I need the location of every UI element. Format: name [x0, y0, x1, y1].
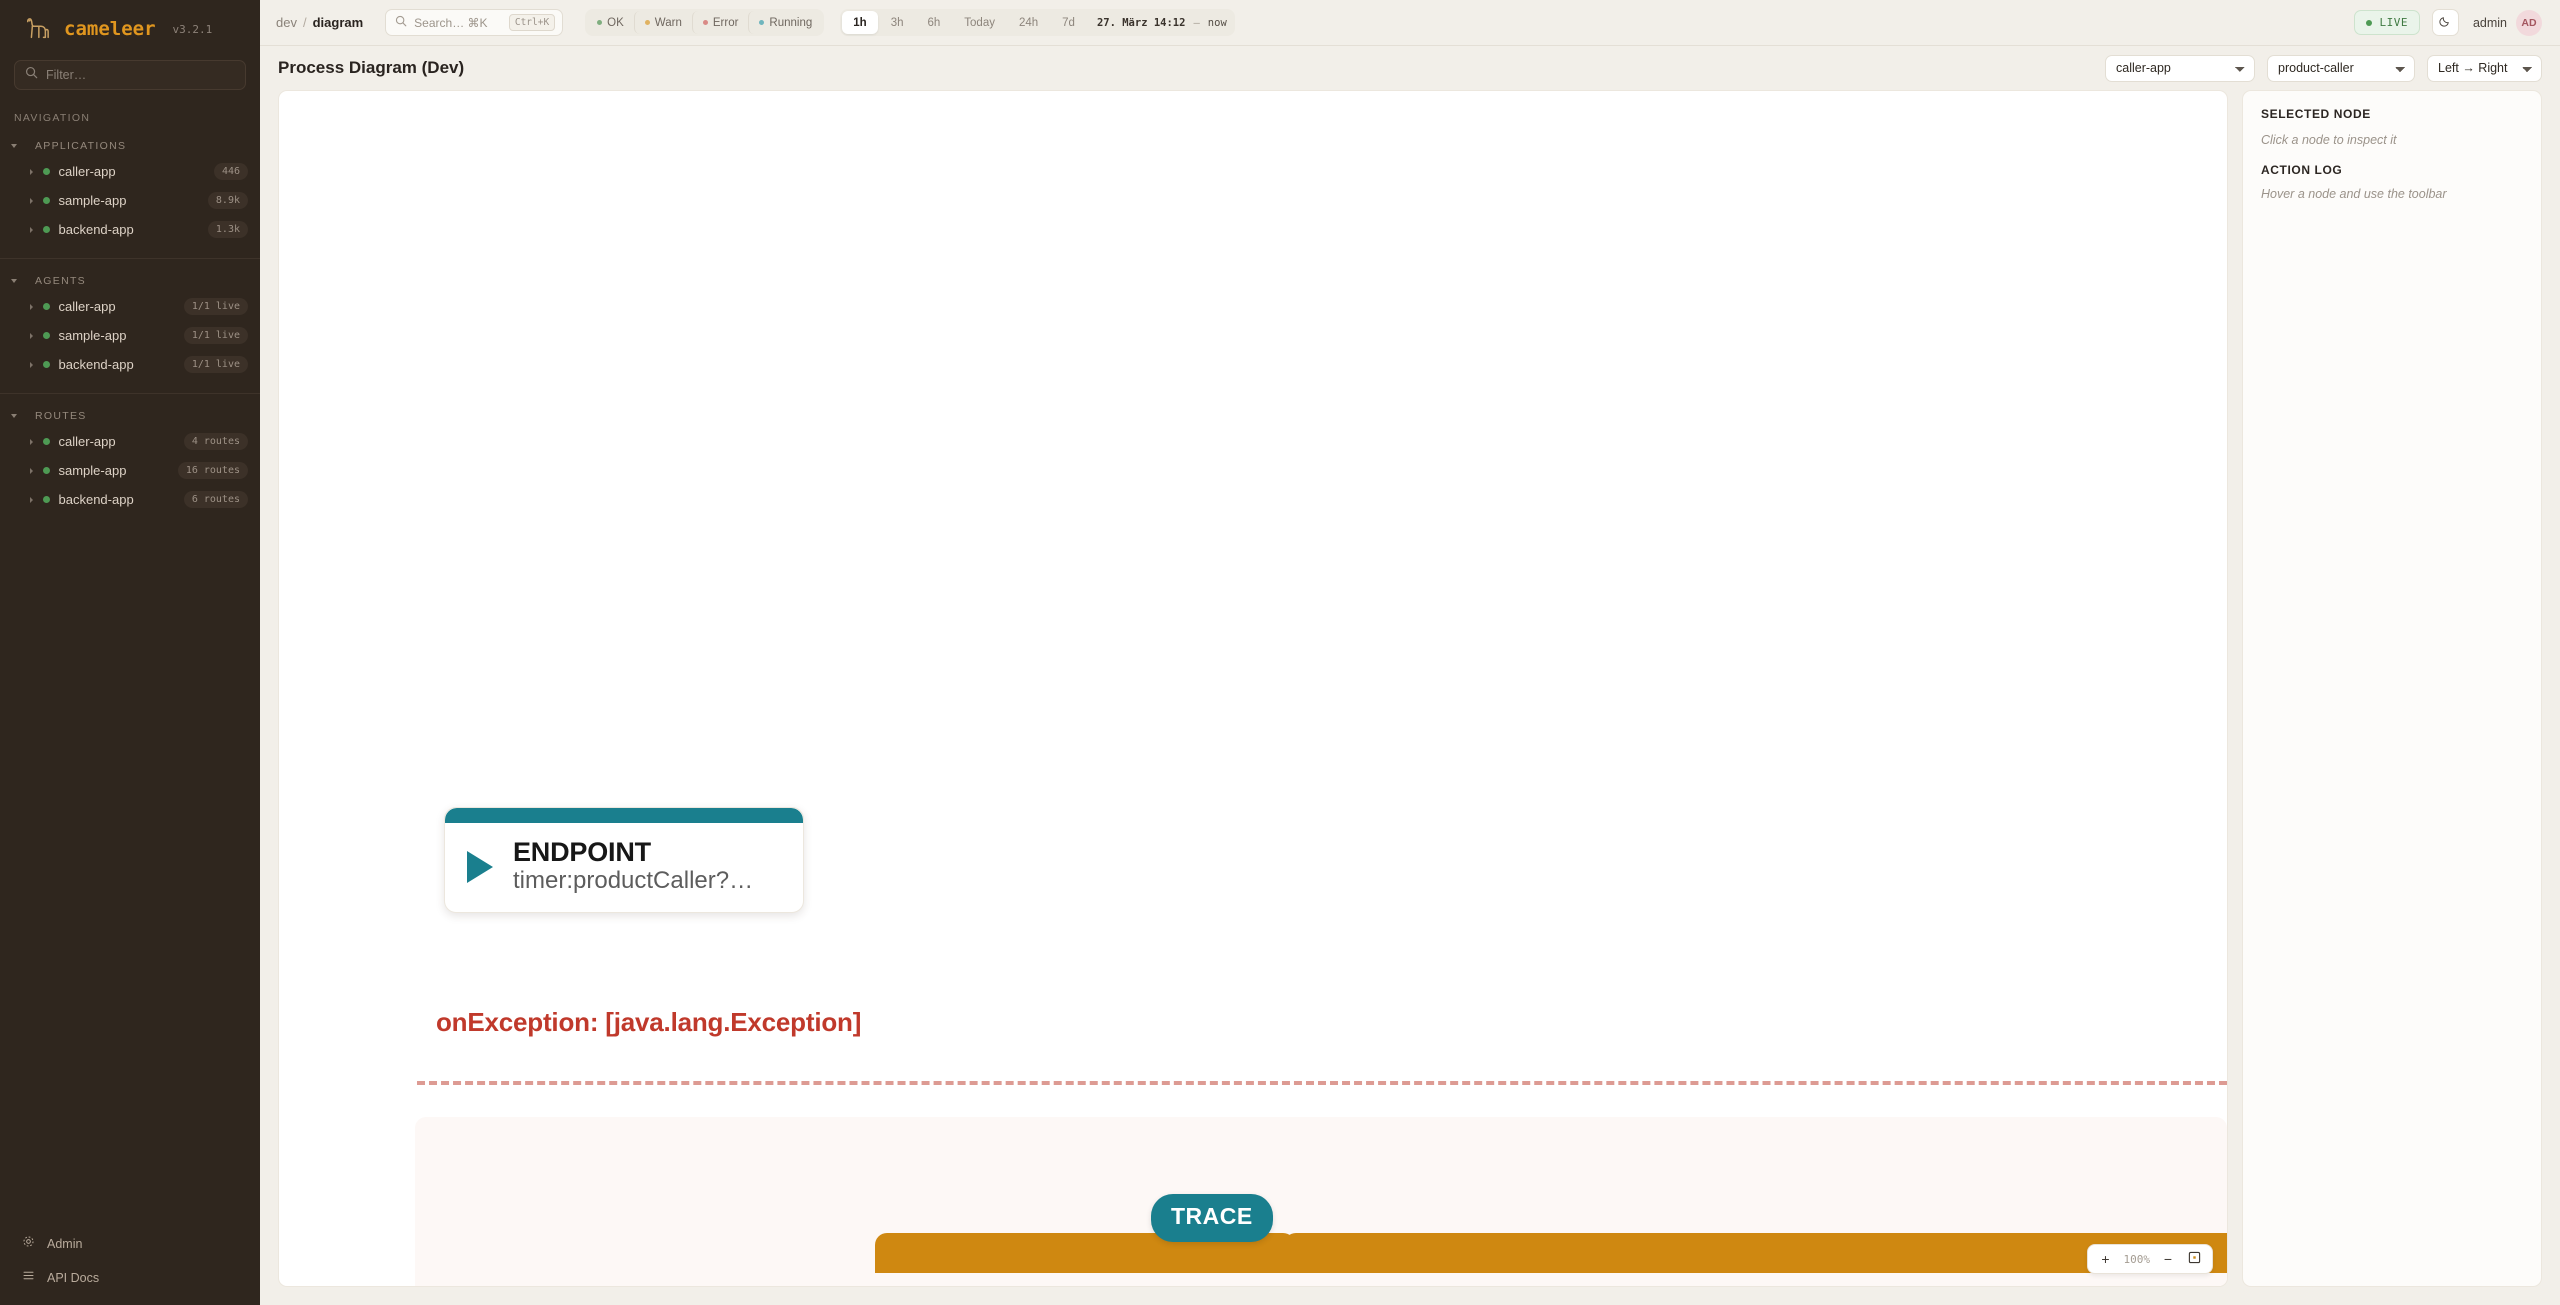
search-placeholder: Search… ⌘K — [414, 16, 502, 30]
zoom-out-button[interactable]: − — [2156, 1247, 2180, 1271]
chevron-down-icon — [11, 144, 17, 148]
status-dot — [43, 361, 50, 368]
item-badge: 446 — [214, 163, 248, 180]
status-dot — [43, 496, 50, 503]
action-log-empty-text: Hover a node and use the toolbar — [2261, 187, 2523, 201]
chevron-right-icon — [30, 468, 34, 474]
topbar: dev / diagram Search… ⌘K Ctrl+K OK — [260, 0, 2560, 46]
sidebar-filter — [0, 54, 260, 90]
group-label: ROUTES — [24, 410, 87, 422]
inspector-panel: SELECTED NODE Click a node to inspect it… — [2242, 90, 2542, 1287]
item-badge: 6 routes — [184, 491, 248, 508]
page-header: Process Diagram (Dev) caller-app product… — [260, 46, 2560, 90]
chevron-down-icon — [11, 414, 17, 418]
sidebar-group-agents: AGENTS caller-app 1/1 live sample-app 1/… — [0, 259, 260, 379]
item-label: caller-app — [59, 434, 184, 449]
breadcrumb-separator: / — [297, 15, 313, 30]
page-title: Process Diagram (Dev) — [278, 58, 464, 78]
status-dot — [43, 438, 50, 445]
item-badge: 16 routes — [178, 462, 248, 479]
sidebar-footer-label: Admin — [47, 1237, 82, 1251]
diagram-node-endpoint[interactable]: ENDPOINT timer:productCaller?… — [444, 807, 804, 913]
sidebar-item-agents-sample-app[interactable]: sample-app 1/1 live — [0, 321, 260, 350]
camel-icon — [22, 16, 52, 42]
live-label: LIVE — [2379, 16, 2408, 29]
status-dot — [43, 197, 50, 204]
item-label: sample-app — [59, 463, 178, 478]
sidebar-footer: Admin API Docs — [0, 1227, 260, 1295]
sidebar-group-routes: ROUTES caller-app 4 routes sample-app 16… — [0, 394, 260, 514]
status-dot — [43, 332, 50, 339]
sidebar-group-applications: APPLICATIONS caller-app 446 sample-app 8… — [0, 124, 260, 244]
nav-heading: NAVIGATION — [0, 90, 260, 124]
node-body: ENDPOINT timer:productCaller?… — [445, 823, 803, 912]
status-filter-warn[interactable]: Warn — [634, 11, 692, 34]
group-label: APPLICATIONS — [24, 140, 126, 152]
sidebar-item-routes-caller-app[interactable]: caller-app 4 routes — [0, 427, 260, 456]
status-filter-group: OK Warn Error Running — [585, 9, 824, 36]
item-badge: 1/1 live — [184, 327, 248, 344]
sidebar-item-routes-sample-app[interactable]: sample-app 16 routes — [0, 456, 260, 485]
chevron-right-icon — [30, 439, 34, 445]
brand-name: cameleer — [64, 18, 156, 40]
chevron-right-icon — [30, 198, 34, 204]
exception-divider — [417, 1081, 2227, 1085]
time-range-7d[interactable]: 7d — [1051, 11, 1086, 34]
theme-toggle-button[interactable] — [2432, 9, 2459, 36]
time-range-1h[interactable]: 1h — [842, 11, 877, 34]
status-dot — [43, 226, 50, 233]
zoom-controls: + 100% − — [2087, 1244, 2214, 1274]
trace-badge[interactable]: TRACE — [1151, 1194, 1273, 1242]
status-dot-error — [703, 20, 708, 25]
status-filter-label: Warn — [655, 17, 682, 29]
fit-view-button[interactable] — [2182, 1247, 2206, 1271]
time-range-6h[interactable]: 6h — [916, 11, 951, 34]
time-range-3h[interactable]: 3h — [880, 11, 915, 34]
app-root: cameleer v3.2.1 NAVIGATION APPLICATIONS — [0, 0, 2560, 1305]
node-text: ENDPOINT timer:productCaller?… — [513, 837, 753, 896]
status-dot-ok — [597, 20, 602, 25]
avatar[interactable]: AD — [2516, 10, 2542, 36]
search-icon — [25, 66, 38, 84]
item-label: caller-app — [59, 164, 214, 179]
live-status-badge[interactable]: LIVE — [2354, 10, 2420, 35]
item-label: backend-app — [59, 222, 208, 237]
item-label: caller-app — [59, 299, 184, 314]
diagram-canvas[interactable]: ENDPOINT timer:productCaller?… onExcepti… — [278, 90, 2228, 1287]
node-kind-label: ENDPOINT — [513, 837, 753, 867]
sidebar-item-applications-sample-app[interactable]: sample-app 8.9k — [0, 186, 260, 215]
time-range-dash: — — [1187, 17, 1205, 29]
item-badge: 1/1 live — [184, 356, 248, 373]
content-area: ENDPOINT timer:productCaller?… onExcepti… — [260, 90, 2560, 1305]
node-uri-label: timer:productCaller?… — [513, 867, 753, 896]
play-icon — [467, 851, 493, 883]
route-select[interactable]: product-caller — [2267, 55, 2415, 82]
gear-icon — [22, 1235, 35, 1253]
time-range-today[interactable]: Today — [953, 11, 1006, 34]
search-input[interactable]: Search… ⌘K Ctrl+K — [385, 9, 563, 36]
node-header-bar — [445, 808, 803, 823]
sidebar-item-agents-backend-app[interactable]: backend-app 1/1 live — [0, 350, 260, 379]
selected-node-empty-text: Click a node to inspect it — [2261, 133, 2523, 147]
sidebar: cameleer v3.2.1 NAVIGATION APPLICATIONS — [0, 0, 260, 1305]
item-label: backend-app — [59, 357, 184, 372]
group-header-applications[interactable]: APPLICATIONS — [0, 140, 260, 152]
item-badge: 4 routes — [184, 433, 248, 450]
item-label: sample-app — [59, 328, 184, 343]
group-header-agents[interactable]: AGENTS — [0, 275, 260, 287]
sidebar-item-applications-backend-app[interactable]: backend-app 1.3k — [0, 215, 260, 244]
status-dot — [43, 168, 50, 175]
status-filter-label: Error — [713, 17, 739, 29]
sidebar-item-api-docs[interactable]: API Docs — [0, 1261, 260, 1295]
sidebar-item-admin[interactable]: Admin — [0, 1227, 260, 1261]
status-filter-label: Running — [769, 17, 812, 29]
chevron-right-icon — [30, 169, 34, 175]
status-filter-running[interactable]: Running — [748, 11, 822, 34]
time-range-group: 1h 3h 6h Today 24h 7d 27. März 14:12 — n… — [840, 9, 1235, 36]
time-range-end: now — [1208, 17, 1227, 29]
status-dot-running — [759, 20, 764, 25]
sidebar-item-applications-caller-app[interactable]: caller-app 446 — [0, 157, 260, 186]
group-header-routes[interactable]: ROUTES — [0, 410, 260, 422]
selected-node-heading: SELECTED NODE — [2261, 107, 2523, 121]
direction-select[interactable]: Left → Right — [2427, 55, 2542, 82]
zoom-level-label: 100% — [2120, 1253, 2155, 1266]
chevron-right-icon — [30, 497, 34, 503]
search-shortcut-badge: Ctrl+K — [509, 14, 555, 31]
group-label: AGENTS — [24, 275, 86, 287]
chevron-right-icon — [30, 227, 34, 233]
application-select[interactable]: caller-app — [2105, 55, 2255, 82]
brand-logo[interactable]: cameleer v3.2.1 — [0, 0, 260, 54]
brand-version: v3.2.1 — [173, 23, 213, 36]
status-filter-error[interactable]: Error — [692, 11, 749, 34]
fit-view-icon — [2188, 1251, 2201, 1267]
item-badge: 8.9k — [208, 192, 248, 209]
zoom-in-button[interactable]: + — [2094, 1247, 2118, 1271]
status-filter-label: OK — [607, 17, 624, 29]
status-dot-warn — [645, 20, 650, 25]
item-label: sample-app — [59, 193, 208, 208]
list-icon — [22, 1269, 35, 1287]
action-log-heading: ACTION LOG — [2261, 163, 2523, 177]
item-badge: 1.3k — [208, 221, 248, 238]
status-filter-ok[interactable]: OK — [587, 11, 634, 34]
sidebar-footer-label: API Docs — [47, 1271, 99, 1285]
search-icon — [395, 14, 407, 32]
time-range-24h[interactable]: 24h — [1008, 11, 1049, 34]
breadcrumb-root[interactable]: dev — [276, 15, 297, 30]
chevron-right-icon — [30, 362, 34, 368]
item-label: backend-app — [59, 492, 184, 507]
live-dot-icon — [2366, 20, 2372, 26]
exception-label: onException: [java.lang.Exception] — [436, 1007, 861, 1038]
sidebar-item-routes-backend-app[interactable]: backend-app 6 routes — [0, 485, 260, 514]
moon-icon — [2439, 14, 2452, 32]
user-name: admin — [2473, 16, 2507, 30]
status-dot — [43, 467, 50, 474]
item-badge: 1/1 live — [184, 298, 248, 315]
sidebar-item-agents-caller-app[interactable]: caller-app 1/1 live — [0, 292, 260, 321]
time-range-start: 27. März 14:12 — [1088, 17, 1186, 29]
status-dot — [43, 303, 50, 310]
filter-input[interactable] — [46, 68, 235, 82]
chevron-down-icon — [11, 279, 17, 283]
chevron-right-icon — [30, 333, 34, 339]
chevron-right-icon — [30, 304, 34, 310]
breadcrumb-current: diagram — [313, 15, 364, 30]
filter-box[interactable] — [14, 60, 246, 90]
main-area: dev / diagram Search… ⌘K Ctrl+K OK — [260, 0, 2560, 1305]
